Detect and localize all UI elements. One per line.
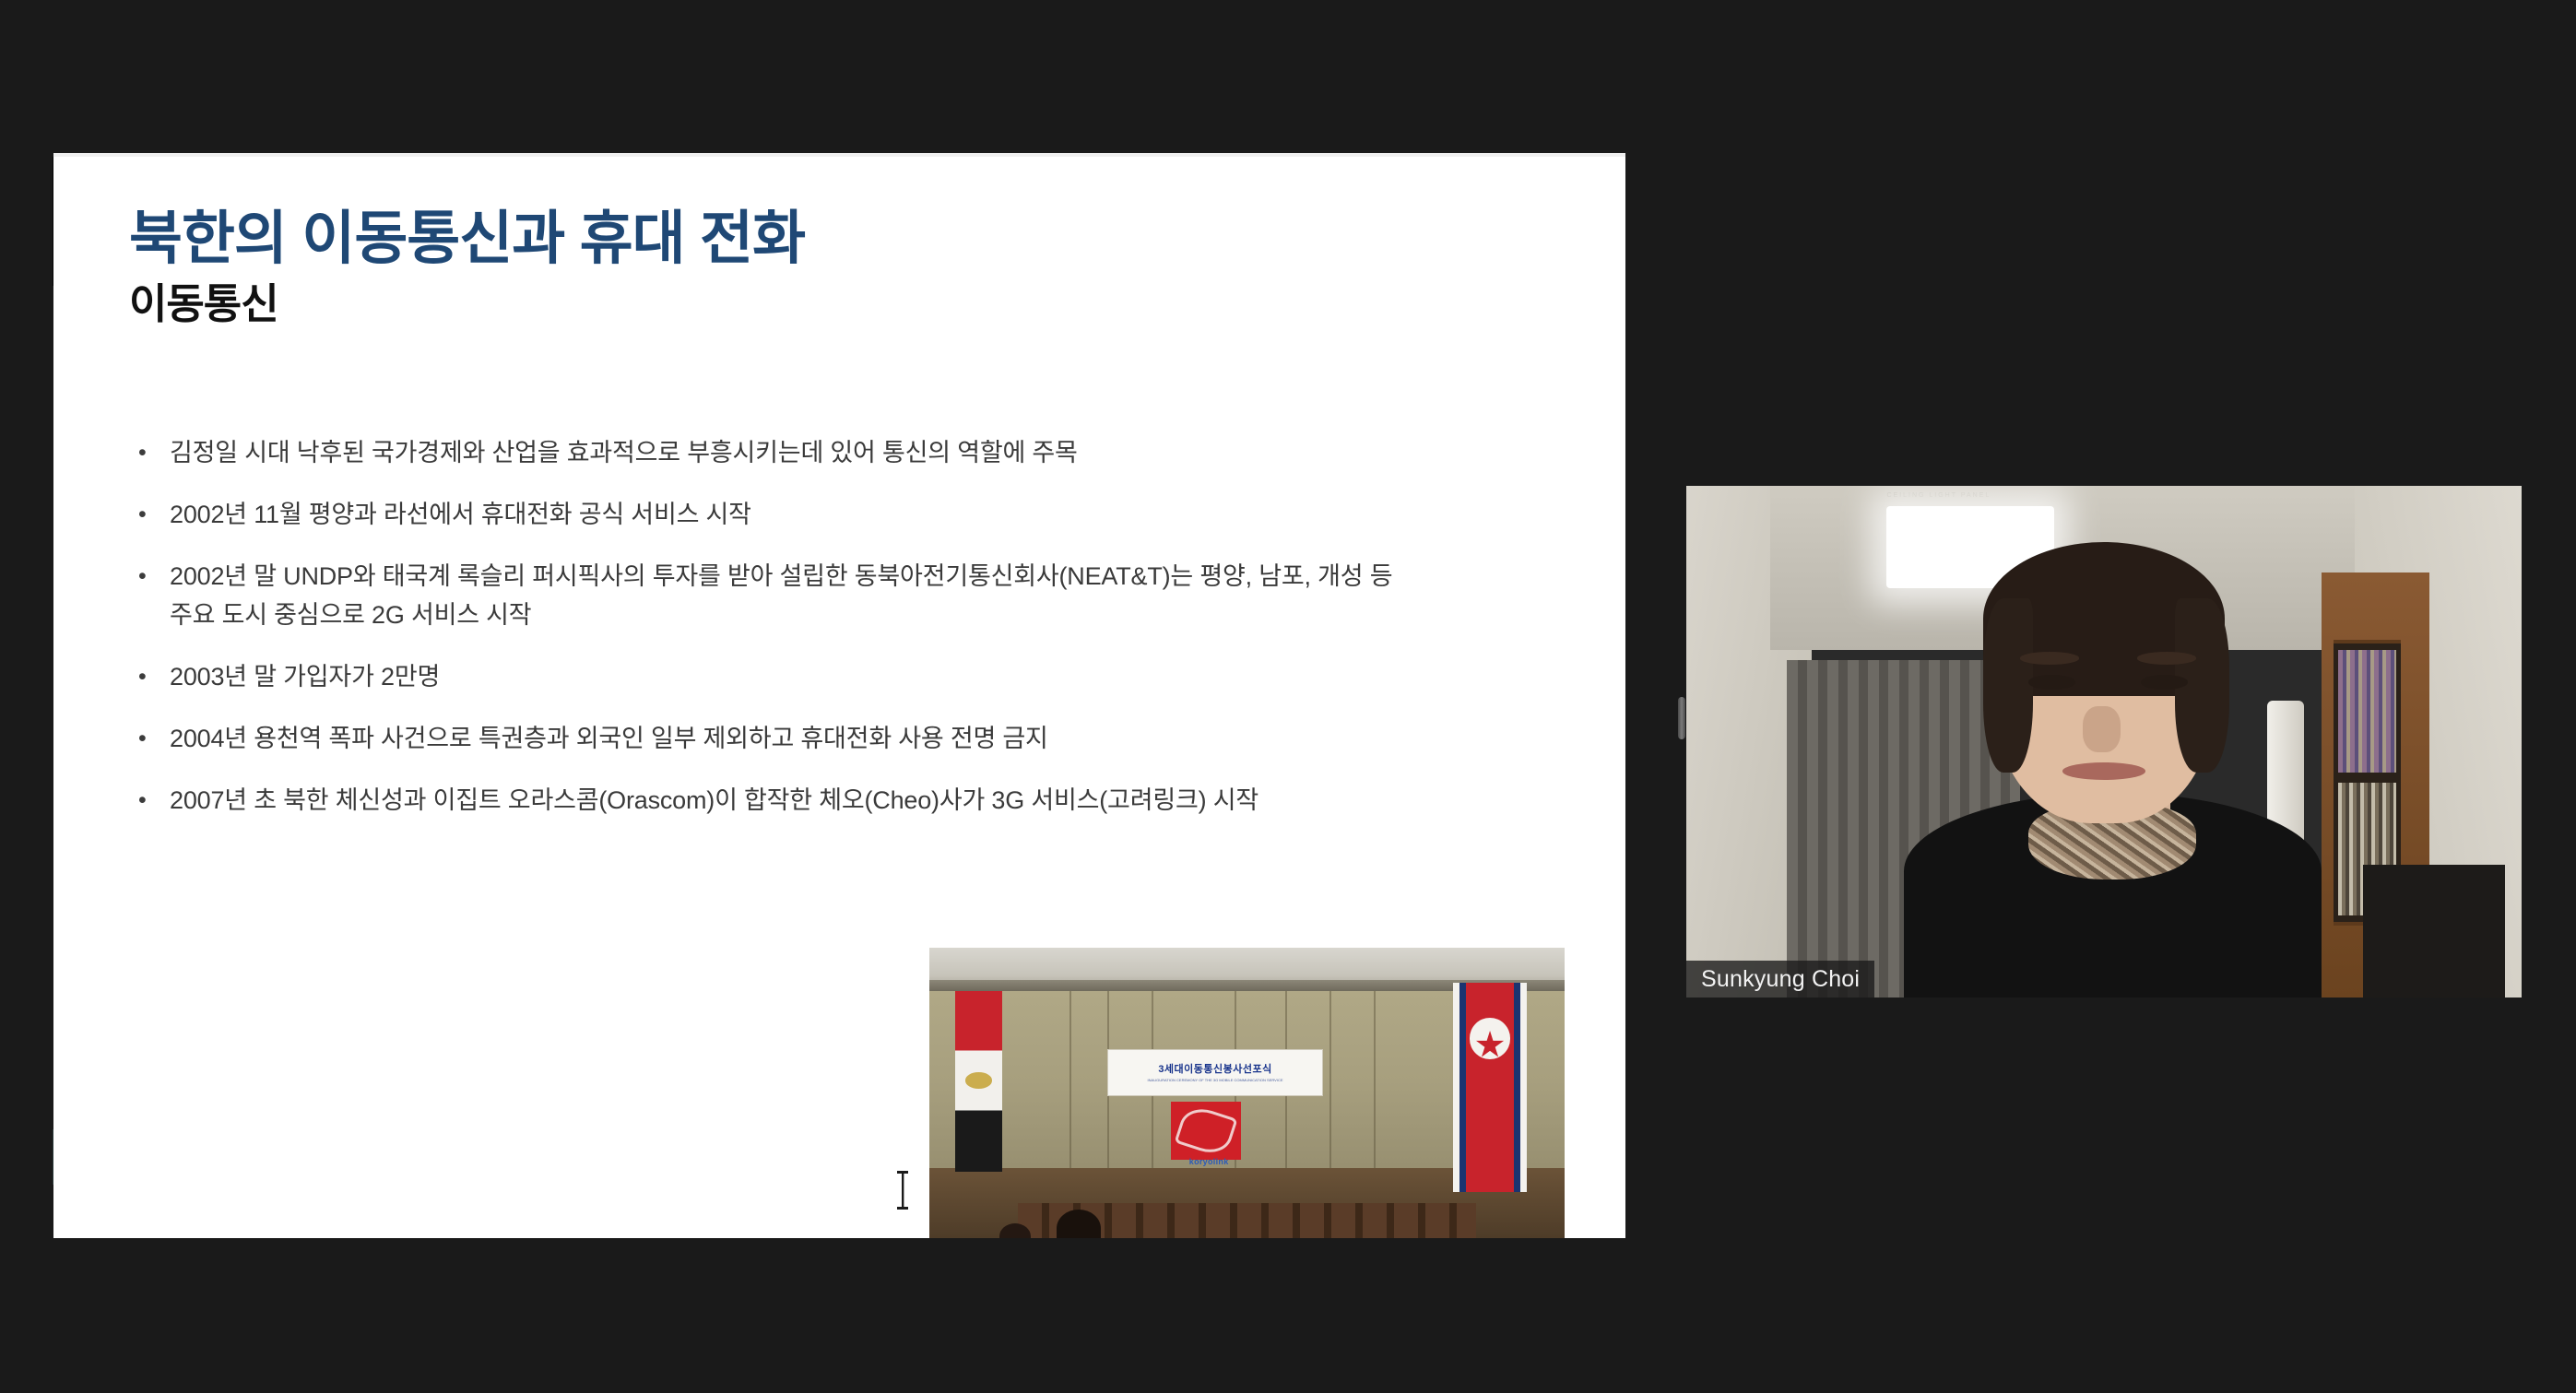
bullet-item: • 2002년 11월 평양과 라선에서 휴대전화 공식 서비스 시작 [135, 495, 1554, 534]
video-ceiling-label: CEILING LIGHT PANEL [1886, 492, 2086, 499]
north-korea-flag-icon [1453, 983, 1526, 1192]
bullet-text: 2004년 용천역 폭파 사건으로 특권층과 외국인 일부 제외하고 휴대전화 … [170, 719, 1554, 758]
bullet-text: 김정일 시대 낙후된 국가경제와 산업을 효과적으로 부흥시키는데 있어 통신의… [170, 433, 1554, 472]
koryolink-logo-text: koryolink [1158, 1157, 1259, 1166]
participant-nose [2083, 706, 2121, 752]
egypt-flag-eagle-icon [965, 1072, 992, 1089]
participant-hair-side [1983, 598, 2033, 773]
banner-english-text: INAUGURATION CEREMONY OF THE 3G MOBILE C… [1148, 1078, 1283, 1083]
bullet-line-1: 2007년 초 북한 체신성과 이집트 오라스콤(Orascom)이 합작한 체… [170, 786, 1258, 814]
bullet-text: 2002년 11월 평양과 라선에서 휴대전화 공식 서비스 시작 [170, 495, 1554, 534]
bullet-line-1: 김정일 시대 낙후된 국가경제와 산업을 효과적으로 부흥시키는데 있어 통신의… [170, 439, 1078, 466]
bullet-dot-icon: • [135, 433, 170, 472]
participant-eye [2028, 675, 2075, 690]
bullet-line-1: 2004년 용천역 폭파 사건으로 특권층과 외국인 일부 제외하고 휴대전화 … [170, 725, 1048, 752]
photo-wall-panel [1329, 991, 1331, 1171]
bullet-item: • 2007년 초 북한 체신성과 이집트 오라스콤(Orascom)이 합작한… [135, 781, 1554, 820]
slide-photo-ceremony: 3세대이동통신봉사선포식 INAUGURATION CEREMONY OF TH… [929, 948, 1565, 1238]
bullet-item: • 2003년 말 가입자가 2만명 [135, 657, 1554, 696]
bullet-dot-icon: • [135, 557, 170, 596]
presentation-slide[interactable]: 북한의 이동통신과 휴대 전화 이동통신 • 김정일 시대 낙후된 국가경제와 … [53, 157, 1625, 1238]
banner-korean-text: 3세대이동통신봉사선포식 [1158, 1061, 1271, 1076]
participant-video-tile[interactable]: CEILING LIGHT PANEL Sunkyung Choi [1686, 486, 2522, 998]
video-books [2338, 650, 2396, 773]
participant-eyebrow [2137, 652, 2195, 664]
bullet-line-2: 주요 도시 중심으로 2G 서비스 시작 [170, 596, 1554, 634]
bullet-text: 2002년 말 UNDP와 태국계 록슬리 퍼시픽사의 투자를 받아 설립한 동… [170, 557, 1554, 634]
bullet-dot-icon: • [135, 781, 170, 820]
bullet-dot-icon: • [135, 719, 170, 758]
photo-wall-panel [1069, 991, 1071, 1171]
participant-name-badge: Sunkyung Choi [1686, 961, 1874, 998]
bullet-dot-icon: • [135, 495, 170, 534]
slide-subtitle: 이동통신 [129, 270, 278, 330]
video-dark-furniture [2363, 865, 2505, 998]
slide-bullet-list: • 김정일 시대 낙후된 국가경제와 산업을 효과적으로 부흥시키는데 있어 통… [135, 433, 1554, 820]
participant-eyebrow [2020, 652, 2078, 664]
bullet-line-1: 2002년 11월 평양과 라선에서 휴대전화 공식 서비스 시작 [170, 501, 751, 528]
screen-share-stage: 북한의 이동통신과 휴대 전화 이동통신 • 김정일 시대 낙후된 국가경제와 … [0, 0, 2576, 1393]
video-panel-drag-handle[interactable] [1678, 697, 1685, 739]
egypt-flag-icon [955, 991, 1003, 1171]
participant-mouth [2062, 762, 2146, 780]
koryolink-swirl-icon [1174, 1103, 1237, 1159]
koryolink-logo-icon [1171, 1102, 1241, 1160]
bullet-item: • 2004년 용천역 폭파 사건으로 특권층과 외국인 일부 제외하고 휴대전… [135, 719, 1554, 758]
photo-wall-panel [1374, 991, 1376, 1171]
bullet-text: 2003년 말 가입자가 2만명 [170, 657, 1554, 696]
photo-ceremony-banner: 3세대이동통신봉사선포식 INAUGURATION CEREMONY OF TH… [1107, 1049, 1323, 1095]
bullet-item: • 2002년 말 UNDP와 태국계 록슬리 퍼시픽사의 투자를 받아 설립한… [135, 557, 1554, 634]
text-ibeam-cursor [896, 1169, 909, 1211]
bullet-line-1: 2003년 말 가입자가 2만명 [170, 663, 440, 691]
bullet-line-1: 2002년 말 UNDP와 태국계 록슬리 퍼시픽사의 투자를 받아 설립한 동… [170, 562, 1392, 590]
slide-title: 북한의 이동통신과 휴대 전화 [129, 192, 805, 276]
bullet-dot-icon: • [135, 657, 170, 696]
bullet-text: 2007년 초 북한 체신성과 이집트 오라스콤(Orascom)이 합작한 체… [170, 781, 1554, 820]
bullet-item: • 김정일 시대 낙후된 국가경제와 산업을 효과적으로 부흥시키는데 있어 통… [135, 433, 1554, 472]
participant-name-label: Sunkyung Choi [1701, 966, 1860, 993]
participant-eye [2141, 675, 2188, 690]
